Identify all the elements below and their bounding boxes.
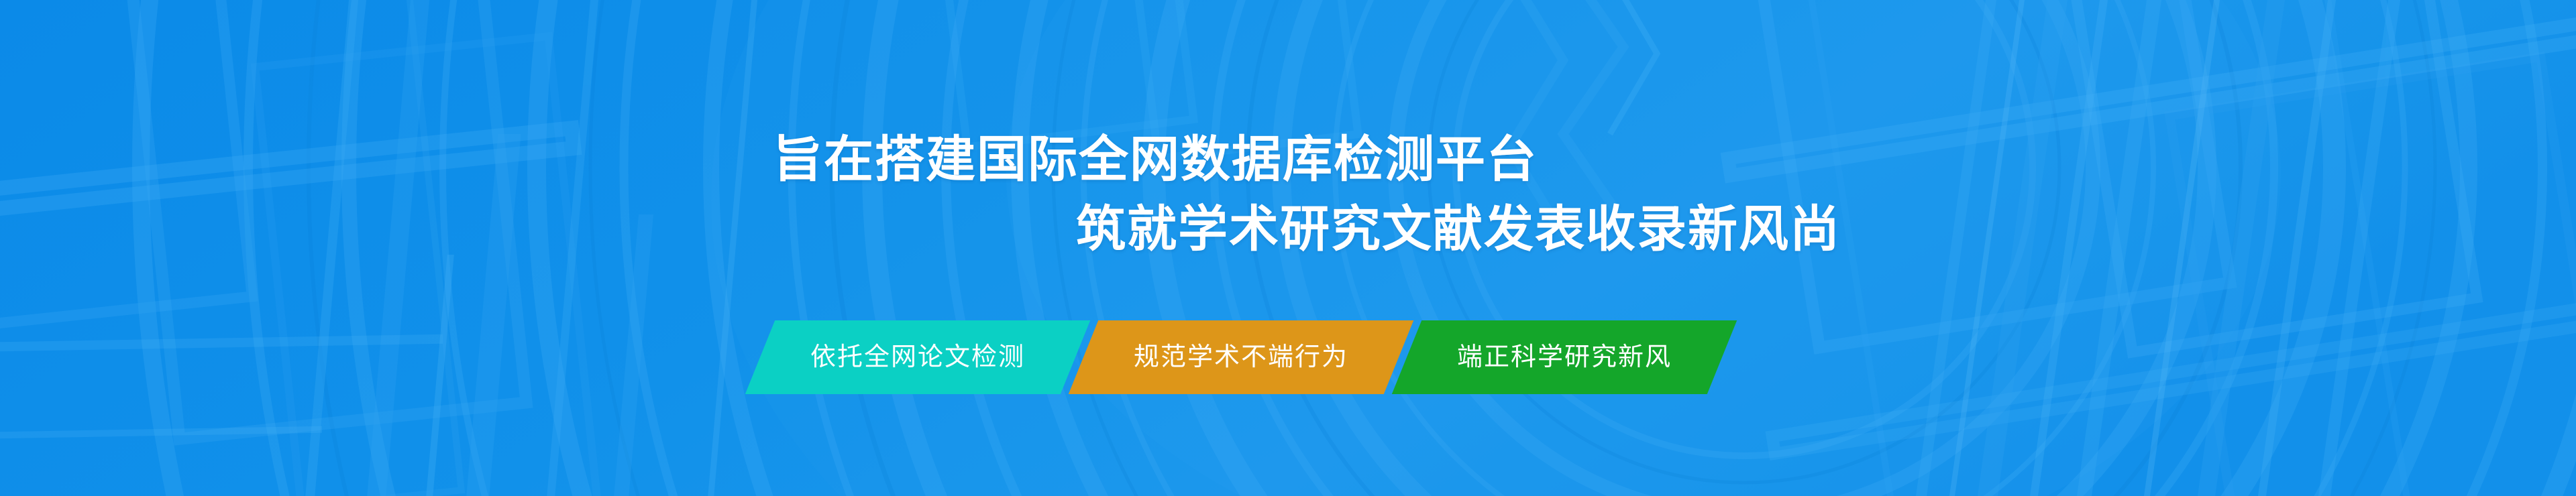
- headline-block: 旨在搭建国际全网数据库检测平台 筑就学术研究文献发表收录新风尚: [0, 125, 2576, 264]
- feature-badge-research-ethics[interactable]: 端正科学研究新风: [1392, 320, 1737, 394]
- feature-badge-paper-detection[interactable]: 依托全网论文检测: [745, 320, 1090, 394]
- feature-badge-academic-misconduct[interactable]: 规范学术不端行为: [1069, 320, 1413, 394]
- promo-banner: 旨在搭建国际全网数据库检测平台 筑就学术研究文献发表收录新风尚 依托全网论文检测…: [0, 0, 2576, 496]
- headline-line-1: 旨在搭建国际全网数据库检测平台: [0, 125, 2576, 194]
- feature-badge-label: 依托全网论文检测: [806, 320, 1029, 394]
- headline-line-2: 筑就学术研究文献发表收录新风尚: [0, 194, 2576, 264]
- feature-badge-label: 规范学术不端行为: [1130, 320, 1352, 394]
- feature-badge-label: 端正科学研究新风: [1453, 320, 1676, 394]
- feature-badge-strip: 依托全网论文检测 规范学术不端行为 端正科学研究新风: [760, 320, 1722, 394]
